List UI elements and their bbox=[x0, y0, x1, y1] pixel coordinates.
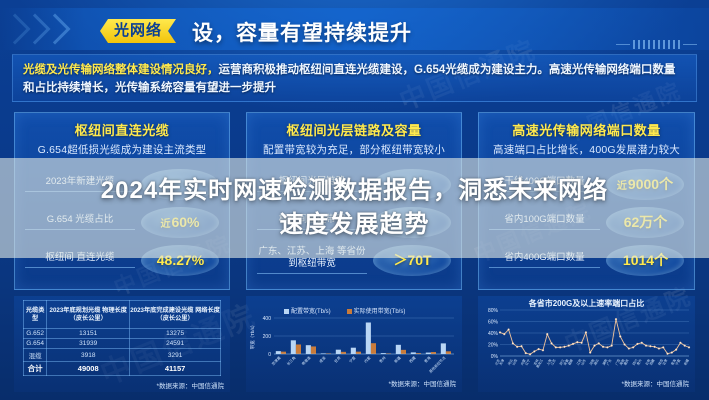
port-ratio-line-chart: 各省市200G及以上速率端口占比 0%20%40%60%80%北京天津河北山西内… bbox=[478, 296, 695, 374]
chart-legend: 配置带宽(Tb/s) 实际使用带宽(Tb/s) bbox=[284, 306, 405, 315]
svg-text:贵州: 贵州 bbox=[378, 355, 387, 364]
data-source-note: *数据来源：中国信通院 bbox=[246, 378, 462, 388]
table-cell: 13151 bbox=[47, 329, 130, 339]
table-row: G.6543193924591 bbox=[24, 339, 221, 349]
svg-text:长三角: 长三角 bbox=[285, 355, 296, 366]
data-point bbox=[559, 346, 561, 348]
legend-item: 实际使用带宽(Tb/s) bbox=[347, 306, 406, 315]
data-point bbox=[525, 352, 527, 354]
bar bbox=[296, 344, 301, 354]
data-point bbox=[503, 333, 505, 335]
data-point bbox=[680, 342, 682, 344]
table-row: G.6521315113275 bbox=[24, 329, 221, 339]
data-point bbox=[602, 346, 604, 348]
svg-text:青海: 青海 bbox=[423, 355, 432, 364]
summary-highlight: 光缆及光传输网络整体建设情况良好， bbox=[23, 64, 219, 76]
data-point bbox=[649, 345, 651, 347]
table-cell: G.654 bbox=[24, 339, 47, 349]
table-cell: 13275 bbox=[130, 329, 221, 339]
overlay-line-1: 2024年实时网速检测数据报告，洞悉未来网络 bbox=[101, 174, 608, 208]
cable-length-table: 光缆类型 2023年底规划光缆 物理长度 （皮长公里） 2023年底完成建设光缆… bbox=[23, 300, 221, 376]
data-point bbox=[684, 345, 686, 347]
svg-text:甘肃: 甘肃 bbox=[333, 355, 342, 364]
panel-title: 枢纽间光层链路及容量 bbox=[247, 120, 461, 139]
data-point bbox=[637, 343, 639, 345]
svg-text:宁夏: 宁夏 bbox=[674, 357, 682, 366]
table-cell: 49008 bbox=[47, 362, 130, 376]
panel-subtitle: G.654超低损光缆成为建设主流类型 bbox=[15, 142, 229, 157]
cable-length-table-block: 光缆类型 2023年底规划光缆 物理长度 （皮长公里） 2023年底完成建设光缆… bbox=[14, 296, 230, 392]
data-point bbox=[585, 332, 587, 334]
header-banner: 光网络 设，容量有望持续提升 bbox=[0, 8, 709, 50]
data-point bbox=[662, 346, 664, 348]
infographic-page: 中国信通院 中国信通院 中国信通院 中国信通院 中国信通院 中国信通院 光网络 … bbox=[0, 0, 709, 400]
table-row: 混缆39183291 bbox=[24, 349, 221, 362]
svg-text:江苏: 江苏 bbox=[549, 357, 557, 366]
bar bbox=[371, 343, 376, 354]
data-point bbox=[576, 341, 578, 343]
svg-text:粤港澳: 粤港澳 bbox=[300, 355, 311, 366]
svg-text:西藏: 西藏 bbox=[408, 355, 417, 364]
data-point bbox=[632, 346, 634, 348]
panel-title: 枢纽间直连光缆 bbox=[15, 120, 229, 139]
data-point bbox=[641, 342, 643, 344]
table-header-cell: 2023年底完成建设光缆 网络长度 （皮长公里） bbox=[130, 301, 221, 329]
data-point bbox=[654, 346, 656, 348]
data-point bbox=[546, 333, 548, 335]
svg-text:内蒙: 内蒙 bbox=[363, 355, 372, 364]
svg-text:广东: 广东 bbox=[605, 358, 613, 366]
port-ratio-line-chart-block: 各省市200G及以上速率端口占比 0%20%40%60%80%北京天津河北山西内… bbox=[478, 296, 695, 392]
data-point bbox=[645, 345, 647, 347]
data-point bbox=[521, 345, 523, 347]
data-point bbox=[512, 342, 514, 344]
data-point bbox=[581, 342, 583, 344]
data-point bbox=[611, 345, 613, 347]
svg-text:重庆: 重庆 bbox=[622, 357, 630, 366]
data-point bbox=[619, 336, 621, 338]
data-point bbox=[615, 318, 617, 320]
svg-text:成渝: 成渝 bbox=[318, 355, 327, 364]
bar bbox=[336, 350, 341, 354]
section-tag: 光网络 bbox=[100, 19, 176, 43]
data-point bbox=[538, 348, 540, 350]
bar bbox=[291, 340, 296, 354]
table-cell: 41157 bbox=[130, 362, 221, 376]
bar bbox=[446, 351, 451, 354]
svg-text:贵州: 贵州 bbox=[635, 358, 643, 366]
table-cell: 24591 bbox=[130, 339, 221, 349]
data-point bbox=[598, 342, 600, 344]
data-point bbox=[671, 352, 673, 354]
chevron-right-icon bbox=[39, 13, 70, 44]
bar bbox=[281, 352, 286, 354]
svg-text:辽宁: 辽宁 bbox=[523, 358, 531, 366]
svg-text:山西: 山西 bbox=[511, 358, 519, 366]
svg-text:60%: 60% bbox=[488, 320, 499, 326]
summary-band: 光缆及光传输网络整体建设情况良好，运营商积极推动枢纽间直连光缆建设，G.654光… bbox=[12, 54, 697, 102]
svg-text:天津: 天津 bbox=[498, 357, 506, 366]
data-source-note: *数据来源：中国信通院 bbox=[478, 378, 695, 388]
data-point bbox=[658, 348, 660, 350]
bar bbox=[356, 352, 361, 354]
svg-text:带宽（Tb/s）: 带宽（Tb/s） bbox=[249, 323, 256, 350]
svg-text:新疆: 新疆 bbox=[682, 357, 690, 366]
data-point bbox=[624, 344, 626, 346]
data-point bbox=[628, 348, 630, 350]
data-point bbox=[568, 345, 570, 347]
data-point bbox=[551, 342, 553, 344]
bandwidth-bar-chart: 配置带宽(Tb/s) 实际使用带宽(Tb/s) 0200400带宽（Tb/s）京… bbox=[246, 296, 462, 374]
data-point bbox=[555, 346, 557, 348]
table-header-row: 光缆类型 2023年底规划光缆 物理长度 （皮长公里） 2023年底完成建设光缆… bbox=[24, 301, 221, 329]
svg-text:400: 400 bbox=[263, 316, 272, 322]
svg-text:福建: 福建 bbox=[566, 357, 574, 366]
page-title: 设，容量有望持续提升 bbox=[192, 17, 412, 47]
data-point bbox=[675, 349, 677, 351]
panel-subtitle: 高速端口占比增长，400G发展潜力较大 bbox=[479, 142, 694, 157]
table-cell: 3291 bbox=[130, 349, 221, 362]
overlay-line-2: 速度发展趋势 bbox=[280, 208, 430, 242]
data-point bbox=[572, 343, 574, 345]
bar bbox=[401, 350, 406, 354]
data-point bbox=[533, 351, 535, 353]
svg-text:200: 200 bbox=[263, 334, 272, 340]
data-point bbox=[589, 352, 591, 354]
bar bbox=[306, 345, 311, 354]
data-point bbox=[516, 346, 518, 348]
svg-text:西藏: 西藏 bbox=[648, 357, 656, 366]
data-point bbox=[529, 353, 531, 355]
table-cell: 3918 bbox=[47, 349, 130, 362]
data-point bbox=[667, 353, 669, 355]
table-cell: 混缆 bbox=[24, 349, 47, 362]
svg-text:京津冀: 京津冀 bbox=[270, 355, 281, 366]
data-point bbox=[542, 349, 544, 351]
svg-text:宁夏: 宁夏 bbox=[348, 355, 357, 364]
data-point bbox=[594, 345, 596, 347]
table-cell: 31939 bbox=[47, 339, 130, 349]
panel-title: 高速光传输网络端口数量 bbox=[479, 120, 694, 139]
table-header-cell: 2023年底规划光缆 物理长度 （皮长公里） bbox=[47, 301, 130, 329]
bar bbox=[276, 351, 281, 354]
svg-text:甘肃: 甘肃 bbox=[661, 357, 669, 366]
overlay-caption: 2024年实时网速检测数据报告，洞悉未来网络 速度发展趋势 bbox=[0, 158, 709, 258]
table-header-cell: 光缆类型 bbox=[24, 301, 47, 329]
data-source-note: *数据来源：中国信通院 bbox=[14, 380, 230, 390]
data-point bbox=[564, 346, 566, 348]
bar bbox=[366, 323, 371, 355]
panel-subtitle: 配置带宽较为充足，部分枢纽带宽较小 bbox=[247, 142, 461, 157]
bar bbox=[351, 348, 356, 354]
svg-text:湖北: 湖北 bbox=[592, 357, 600, 366]
svg-text:其他枢纽节点: 其他枢纽节点 bbox=[428, 355, 447, 374]
svg-text:新疆: 新疆 bbox=[393, 355, 402, 364]
table-row: 合计4900841157 bbox=[24, 362, 221, 376]
table-cell: G.652 bbox=[24, 329, 47, 339]
svg-text:山东: 山东 bbox=[579, 358, 587, 366]
line-series bbox=[500, 319, 689, 354]
svg-text:20%: 20% bbox=[488, 343, 499, 349]
bar bbox=[441, 343, 446, 354]
bandwidth-bar-chart-block: 配置带宽(Tb/s) 实际使用带宽(Tb/s) 0200400带宽（Tb/s）京… bbox=[246, 296, 462, 392]
data-point bbox=[499, 332, 501, 334]
svg-text:0: 0 bbox=[268, 352, 271, 358]
bar bbox=[341, 352, 346, 354]
tick-marks-icon bbox=[616, 40, 697, 49]
legend-item: 配置带宽(Tb/s) bbox=[284, 306, 331, 315]
data-point bbox=[508, 329, 510, 331]
bar bbox=[311, 346, 316, 354]
data-point bbox=[688, 346, 690, 348]
data-point bbox=[606, 346, 608, 348]
table-cell: 合计 bbox=[24, 362, 47, 376]
chart-title: 各省市200G及以上速率端口占比 bbox=[478, 298, 695, 309]
svg-text:40%: 40% bbox=[488, 331, 499, 337]
bar bbox=[396, 345, 401, 354]
